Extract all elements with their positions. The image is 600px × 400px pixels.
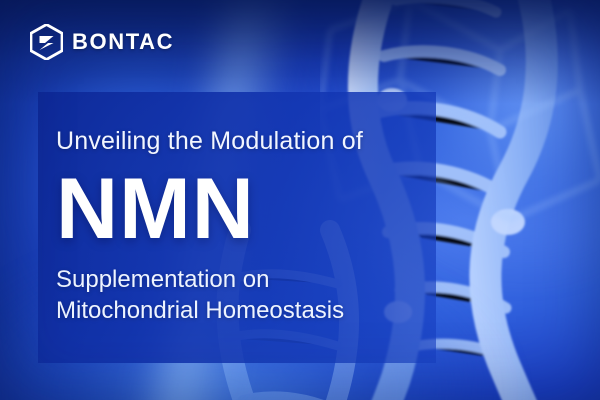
banner-image: Unveiling the Modulation of NMN Suppleme…: [0, 0, 600, 400]
headline-bottom-line-2: Mitochondrial Homeostasis: [56, 295, 436, 327]
headline-bottom-line-1: Supplementation on: [56, 264, 436, 296]
hexagon-z-mark-icon: [30, 24, 63, 60]
brand-logo[interactable]: BONTAC: [30, 24, 174, 60]
headline-top-line: Unveiling the Modulation of: [56, 128, 436, 156]
headline-main-nmn: NMN: [56, 166, 436, 252]
brand-name: BONTAC: [72, 31, 174, 53]
headline-panel: Unveiling the Modulation of NMN Suppleme…: [38, 92, 436, 363]
